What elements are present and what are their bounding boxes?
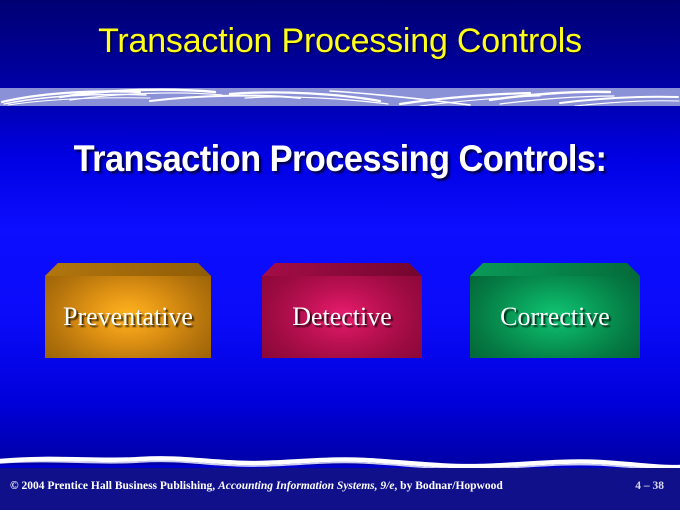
control-box-detective[interactable]: Detective xyxy=(262,263,422,358)
box-label-detective: Detective xyxy=(262,276,422,358)
footer-book-title: Accounting Information Systems, 9/e xyxy=(218,480,394,492)
footer-page-number: 4 – 38 xyxy=(635,480,664,492)
control-box-preventative[interactable]: Preventative xyxy=(45,263,211,358)
main-title: Transaction Processing Controls: xyxy=(24,138,656,180)
header-title: Transaction Processing Controls xyxy=(0,22,680,61)
box-top-bevel-icon xyxy=(262,263,422,276)
box-top-bevel-icon xyxy=(45,263,211,276)
box-label-preventative: Preventative xyxy=(45,276,211,358)
presentation-slide: Transaction Processing Controls xyxy=(0,0,680,510)
footer-copyright: © 2004 Prentice Hall Business Publishing… xyxy=(10,480,503,492)
swoosh-decoration-icon xyxy=(0,88,680,106)
control-box-corrective[interactable]: Corrective xyxy=(470,263,640,358)
slide-body: Transaction Processing Controls: Prevent… xyxy=(0,106,680,465)
footer-copyright-suffix: , by Bodnar/Hopwood xyxy=(394,480,502,492)
box-label-corrective: Corrective xyxy=(470,276,640,358)
box-top-bevel-icon xyxy=(470,263,640,276)
header-divider-band xyxy=(0,88,680,106)
slide-footer: © 2004 Prentice Hall Business Publishing… xyxy=(0,468,680,510)
footer-copyright-prefix: © 2004 Prentice Hall Business Publishing… xyxy=(10,480,218,492)
slide-header: Transaction Processing Controls xyxy=(0,0,680,88)
